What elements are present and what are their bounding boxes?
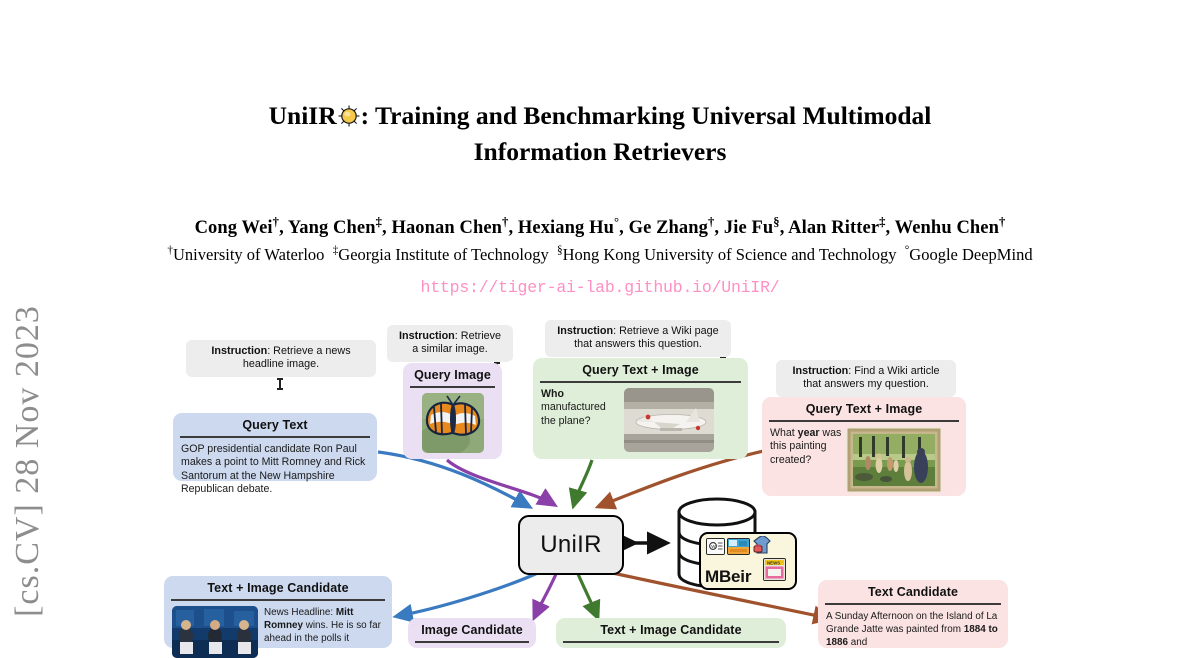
author-name: Yang Chen‡ <box>288 218 382 238</box>
photo-icon <box>727 538 750 555</box>
author-name: Ge Zhang† <box>629 218 715 238</box>
author-mark: § <box>773 215 779 229</box>
query-pre-text: What <box>770 427 798 439</box>
candidate-text-body: A Sunday Afternoon on the Island of La G… <box>818 605 1008 655</box>
connector-news <box>279 378 281 390</box>
author-mark: † <box>708 215 714 229</box>
query-text-image-painting-card: Query Text + Image What year was this pa… <box>762 397 966 496</box>
instruction-wiki-article: Instruction: Find a Wiki article that an… <box>776 360 956 397</box>
query-text-image-header: Query Text + Image <box>533 358 748 381</box>
affiliation-item: ‡Georgia Institute of Technology <box>333 245 549 264</box>
instruction-wiki-page: Instruction: Retrieve a Wiki page that a… <box>545 320 731 357</box>
query-image-card: Query Image <box>403 363 502 459</box>
airplane-thumbnail <box>624 388 714 452</box>
affiliation-mark: ‡ <box>333 244 339 256</box>
query-text-image-header: Query Text + Image <box>762 397 966 420</box>
query-text-card: Query Text GOP presidential candidate Ro… <box>173 413 377 481</box>
instruction-label: Instruction <box>793 365 849 377</box>
query-text-body: GOP presidential candidate Ron Paul make… <box>173 438 377 503</box>
instruction-similar: Instruction: Retrieve a similar image. <box>387 325 513 362</box>
project-url-link[interactable]: https://tiger-ai-lab.github.io/UniIR/ <box>200 278 1000 297</box>
title-text-pre: UniIR <box>269 101 337 130</box>
candidate-header: Image Candidate <box>408 618 536 641</box>
divider <box>563 641 779 643</box>
debate-thumbnail <box>172 606 258 658</box>
author-list: Cong Wei†, Yang Chen‡, Haonan Chen†, Hex… <box>100 215 1100 239</box>
title-line1: UniIR: Training and Benchmarking Univers… <box>269 101 932 130</box>
author-mark: † <box>502 215 508 229</box>
mbeir-badge: W NEWS MBeir <box>699 532 797 590</box>
candidate-post-text: and <box>848 637 867 648</box>
divider <box>415 641 529 643</box>
query-bold-word: Who <box>541 388 564 400</box>
affiliation-mark: ° <box>905 244 910 256</box>
clothing-icon <box>752 536 772 554</box>
title-line2: Information Retrievers <box>474 137 727 166</box>
affiliation-item: †University of Waterloo <box>167 245 324 264</box>
instruction-label: Instruction <box>399 330 455 342</box>
author-name: Haonan Chen† <box>391 218 508 238</box>
svg-text:NEWS: NEWS <box>767 560 780 565</box>
candidate-text-card: Text Candidate A Sunday Afternoon on the… <box>818 580 1008 648</box>
page-title: UniIR: Training and Benchmarking Univers… <box>160 98 1040 170</box>
instruction-label: Instruction <box>211 345 267 357</box>
paper-first-page: [cs.CV] 28 Nov 2023 UniIR: Training and … <box>0 0 1200 648</box>
affiliation-item: °Google DeepMind <box>905 245 1033 264</box>
butterfly-thumbnail <box>422 393 484 453</box>
uniir-node[interactable]: UniIR <box>518 515 624 575</box>
query-text-header: Query Text <box>173 413 377 436</box>
painting-thumbnail <box>846 427 942 493</box>
title-text-post: : Training and Benchmarking Universal Mu… <box>361 101 932 130</box>
candidate-image-card: Image Candidate <box>408 618 536 648</box>
author-mark: ‡ <box>879 215 885 229</box>
mbeir-label: MBeir <box>705 567 751 587</box>
svg-text:W: W <box>711 544 716 549</box>
system-architecture-figure: Instruction: Retrieve a news headline im… <box>0 300 1200 648</box>
author-mark: † <box>999 215 1005 229</box>
query-bold-word: year <box>798 427 820 439</box>
author-name: Cong Wei† <box>195 218 279 238</box>
affiliation-mark: † <box>167 244 173 256</box>
candidate-text-image-news-card: Text + Image Candidate <box>164 576 392 648</box>
affiliation-mark: § <box>557 244 563 256</box>
instruction-news: Instruction: Retrieve a news headline im… <box>186 340 376 377</box>
news-icon: NEWS <box>763 558 786 581</box>
author-name: Jie Fu§ <box>724 218 780 238</box>
author-name: Alan Ritter‡ <box>788 218 885 238</box>
query-image-header: Query Image <box>403 363 502 386</box>
candidate-header: Text Candidate <box>818 580 1008 603</box>
affiliation-item: §Hong Kong University of Science and Tec… <box>557 245 897 264</box>
document-icon: W <box>706 538 725 555</box>
query-text-image-plane-card: Query Text + Image Who manufactured the … <box>533 358 748 459</box>
author-name: Wenhu Chen† <box>895 218 1006 238</box>
author-mark: † <box>273 215 279 229</box>
candidate-text-image-card: Text + Image Candidate <box>556 618 786 648</box>
candidate-pre-text: News Headline: <box>264 607 336 618</box>
author-name: Hexiang Hu° <box>518 218 619 238</box>
sun-emoji <box>338 105 360 127</box>
candidate-header: Text + Image Candidate <box>556 618 786 641</box>
mbeir-database: W NEWS MBeir <box>665 494 795 592</box>
candidate-header: Text + Image Candidate <box>164 576 392 599</box>
author-mark: ° <box>614 215 619 229</box>
instruction-label: Instruction <box>557 325 613 337</box>
author-mark: ‡ <box>376 215 382 229</box>
affiliation-list: †University of Waterloo ‡Georgia Institu… <box>60 244 1140 265</box>
query-rest-text: manufactured the plane? <box>541 401 606 427</box>
